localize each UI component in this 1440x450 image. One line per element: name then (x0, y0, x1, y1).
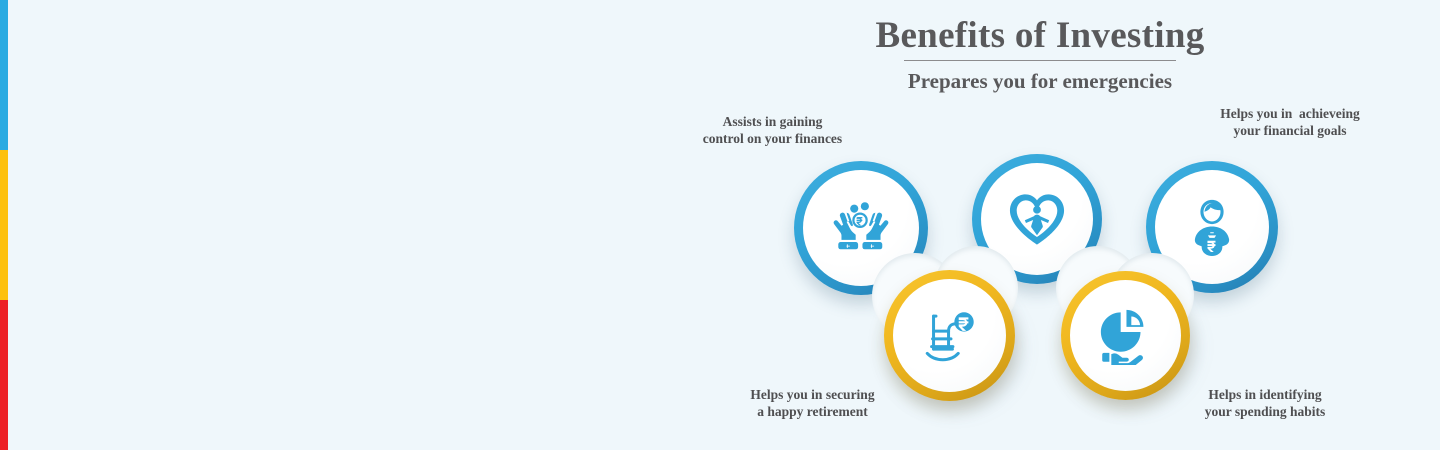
rocking-chair-rupee-icon (919, 306, 981, 366)
hands-holding-coins-icon (830, 199, 892, 257)
person-money-bag-icon (1183, 197, 1241, 257)
benefit-ring-happy-retirement[interactable] (884, 270, 1015, 401)
ring-face (1070, 280, 1181, 391)
benefit-ring-financial-goals[interactable] (1146, 161, 1278, 293)
benefit-ring-spending-habits[interactable] (1061, 271, 1190, 400)
benefit-rings-group (0, 0, 1440, 450)
benefit-ring-emergency-care[interactable] (972, 154, 1102, 284)
infographic-canvas: Benefits of Investing Prepares you for e… (0, 0, 1440, 450)
ring-face (893, 279, 1006, 392)
pie-chart-hand-icon (1096, 307, 1156, 365)
benefit-ring-control-finances[interactable] (794, 161, 928, 295)
heart-person-icon (1006, 190, 1068, 248)
